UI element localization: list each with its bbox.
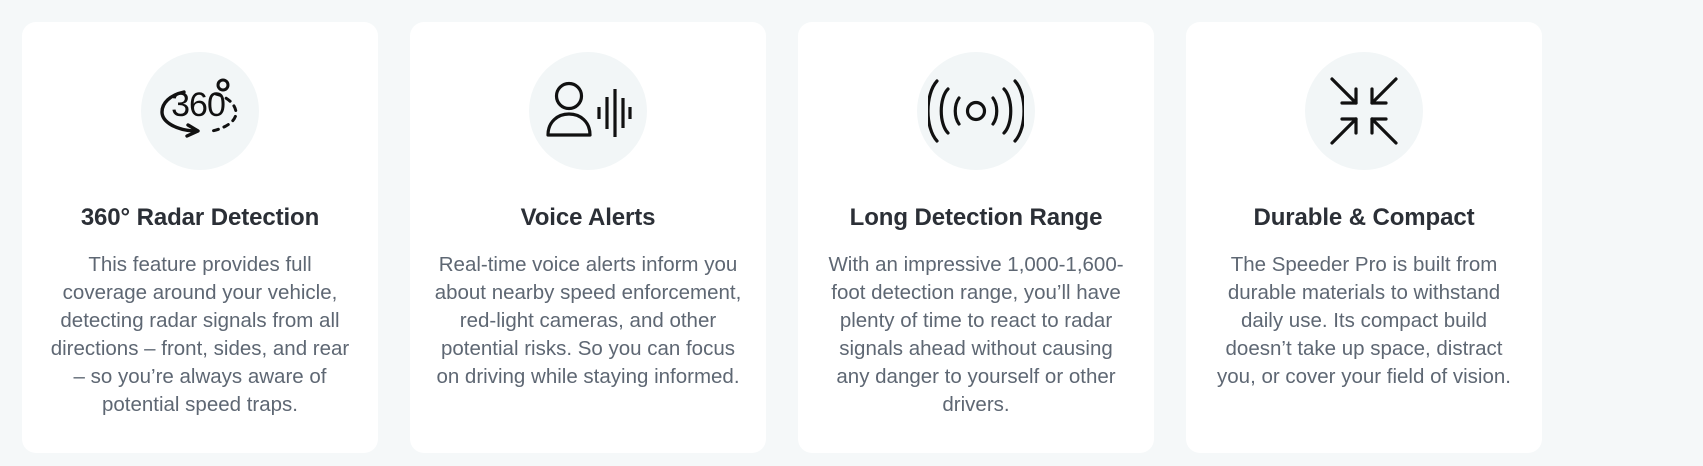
card-body: This feature provides full coverage arou… xyxy=(46,251,354,419)
card-title: Durable & Compact xyxy=(1253,204,1474,233)
card-body: Real-time voice alerts inform you about … xyxy=(434,251,742,391)
feature-card-voice-alerts[interactable]: Voice Alerts Real-time voice alerts info… xyxy=(410,22,766,453)
card-title: 360° Radar Detection xyxy=(81,204,319,233)
feature-card-long-detection-range[interactable]: Long Detection Range With an impressive … xyxy=(798,22,1154,453)
svg-text:360: 360 xyxy=(171,86,225,124)
compress-arrows-inward-icon xyxy=(1305,52,1423,170)
person-voice-waveform-icon xyxy=(529,52,647,170)
feature-card-360-radar-detection[interactable]: 360 360° Radar Detection This feature pr… xyxy=(22,22,378,453)
card-body: With an impressive 1,000-1,600-foot dete… xyxy=(822,251,1130,419)
feature-cards-row: 360 360° Radar Detection This feature pr… xyxy=(0,0,1703,453)
card-body: The Speeder Pro is built from durable ma… xyxy=(1210,251,1518,391)
360-rotation-icon: 360 xyxy=(141,52,259,170)
card-title: Voice Alerts xyxy=(521,204,656,233)
card-title: Long Detection Range xyxy=(850,204,1103,233)
radar-signal-waves-icon xyxy=(917,52,1035,170)
feature-card-durable-compact[interactable]: Durable & Compact The Speeder Pro is bui… xyxy=(1186,22,1542,453)
